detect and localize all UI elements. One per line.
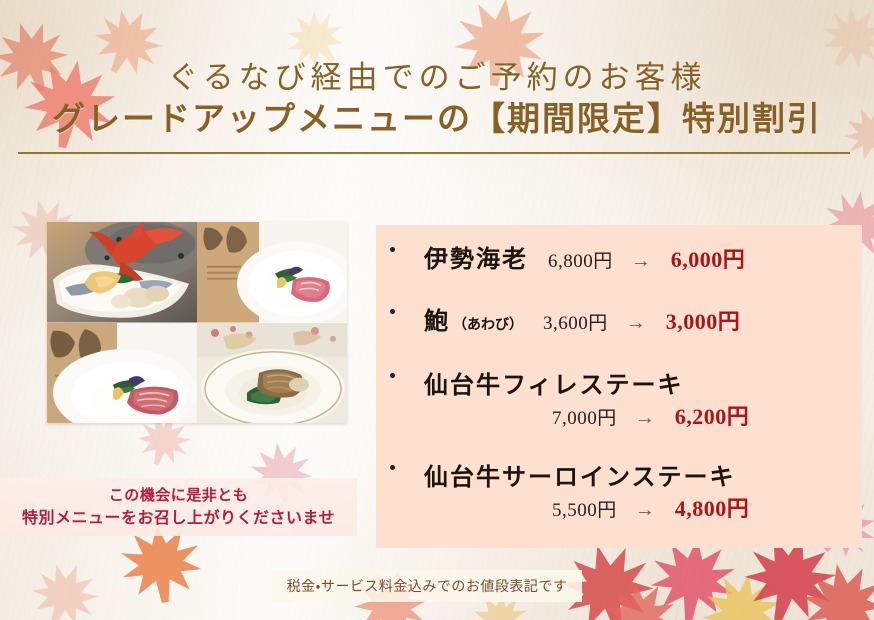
- photo-wagyu-plate: [197, 222, 347, 323]
- promo-poster: ぐるなび経由でのご予約のお客様 グレードアップメニューの【期間限定】特別割引: [0, 0, 874, 620]
- bullet-icon: [390, 465, 395, 470]
- message-line-1: この機会に是非とも: [109, 484, 249, 507]
- original-price: 7,000円: [552, 403, 617, 430]
- dish-name: 伊勢海老: [424, 239, 528, 274]
- photo-lobster: [47, 222, 197, 323]
- dish-furigana: （あわび）: [453, 314, 523, 334]
- menu-price-list: 伊勢海老 6,800円 → 6,000円 鮑 （あわび） 3,600円 → 3,…: [376, 225, 862, 548]
- discounted-price: 6,200円: [675, 399, 750, 431]
- bullet-icon: [390, 373, 395, 378]
- poster-heading: ぐるなび経由でのご予約のお客様 グレードアップメニューの【期間限定】特別割引: [0, 58, 874, 142]
- heading-line-1: ぐるなび経由でのご予約のお客様: [0, 58, 874, 98]
- heading-line-2: グレードアップメニューの【期間限定】特別割引: [0, 98, 874, 142]
- original-price: 6,800円: [548, 246, 613, 273]
- maple-leaf-icon: [793, 553, 874, 620]
- original-price: 3,600円: [543, 308, 608, 335]
- maple-leaf-icon: [685, 555, 799, 620]
- maple-leaf-icon: [19, 549, 110, 620]
- discounted-price: 6,000円: [671, 242, 746, 274]
- call-to-action-message: この機会に是非とも 特別メニューをお召し上がりくださいませ: [0, 478, 357, 536]
- bullet-icon: [390, 247, 395, 252]
- discounted-price: 4,800円: [675, 491, 750, 523]
- discount-price-panel: 伊勢海老 6,800円 → 6,000円 鮑 （あわび） 3,600円 → 3,…: [376, 225, 862, 548]
- arrow-icon: →: [626, 312, 646, 335]
- arrow-icon: →: [631, 250, 651, 273]
- photo-wagyu-steak: [47, 323, 197, 424]
- dish-name: 仙台牛フィレステーキ: [424, 365, 684, 400]
- arrow-icon: →: [635, 499, 655, 522]
- dish-name: 仙台牛サーロインステーキ: [424, 457, 736, 492]
- bullet-icon: [390, 309, 395, 314]
- photo-abalone: [197, 323, 347, 424]
- arrow-icon: →: [635, 407, 655, 430]
- tax-notice-ribbon: 税金・サービス料金込みでのお値段表記です: [272, 570, 582, 602]
- heading-underline: [18, 152, 850, 154]
- original-price: 5,500円: [552, 495, 617, 522]
- dish-photo-collage: [47, 222, 347, 423]
- message-line-2: 特別メニューをお召し上がりくださいませ: [22, 507, 335, 530]
- tax-notice-text: 税金・サービス料金込みでのお値段表記です: [287, 576, 568, 596]
- dish-name: 鮑: [424, 301, 450, 336]
- discounted-price: 3,000円: [666, 304, 741, 336]
- maple-leaf-icon: [585, 563, 694, 620]
